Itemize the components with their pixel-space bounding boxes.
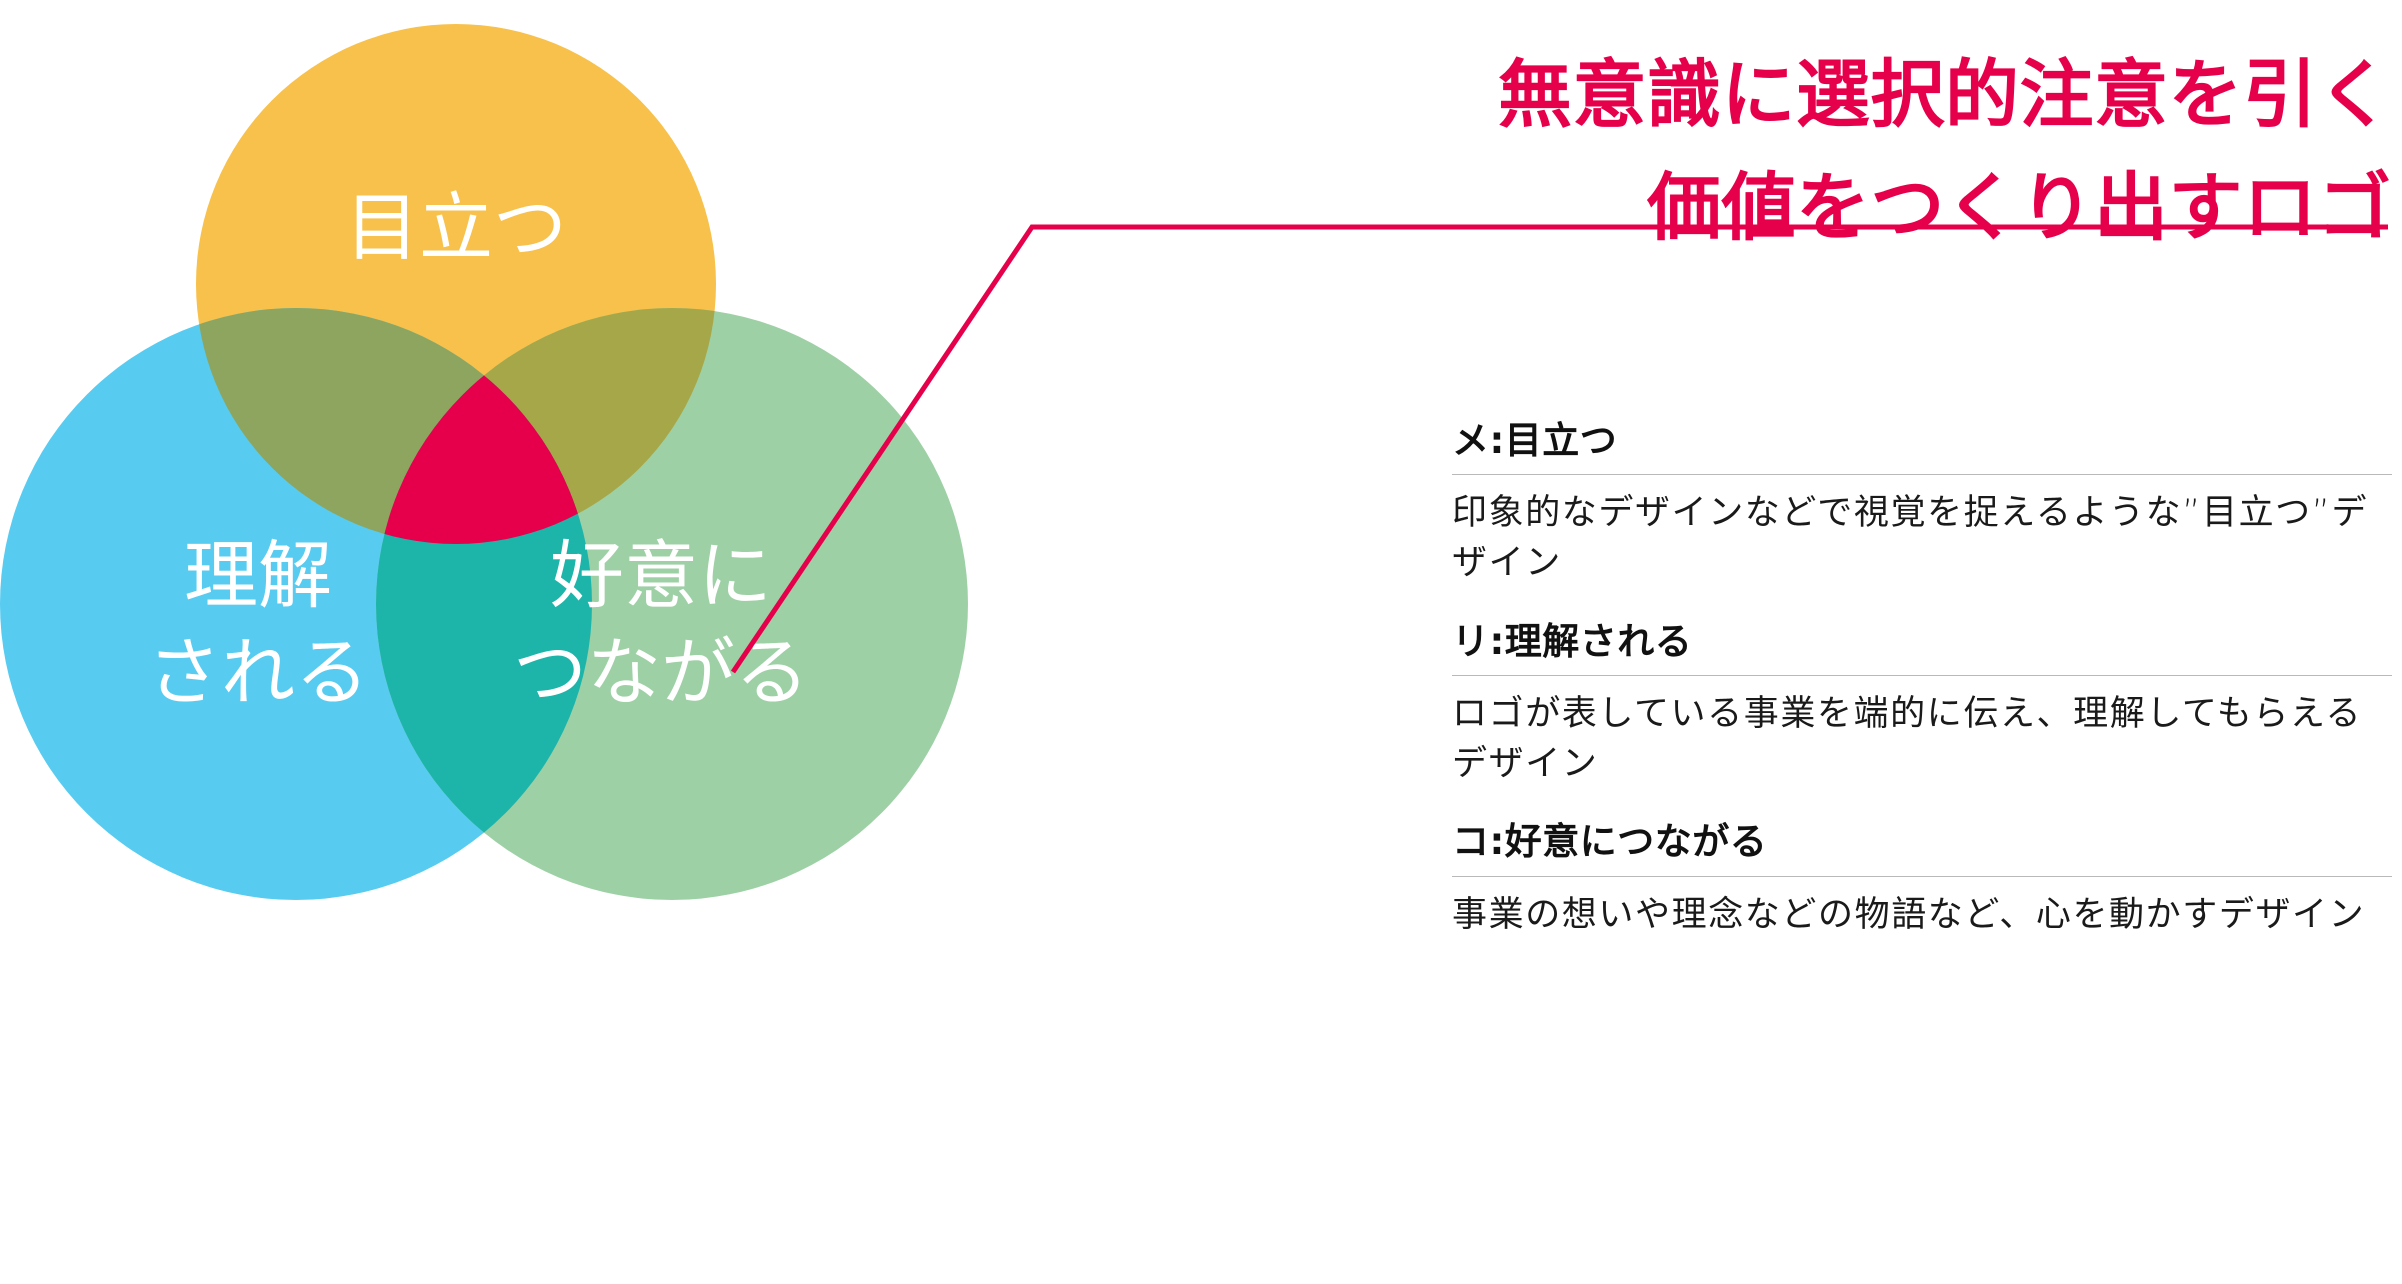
venn-label-left-line-2: される — [147, 631, 369, 714]
list-item-divider — [1452, 675, 2392, 676]
list-item-title: コ:好意につながる — [1452, 819, 2392, 875]
venn-svg: 目立つ 理解 される 好意に つながる — [0, 0, 1400, 1284]
venn-label-left-line-1: 理解 — [184, 534, 332, 617]
headline-line-1: 無意識に選択的注意を引く — [1292, 48, 2392, 143]
definition-list: メ:目立つ 印象的なデザインなどで視覚を捉えるような”目立つ”デザイン リ:理解… — [1452, 418, 2392, 940]
headline-block: 無意識に選択的注意を引く 価値をつくり出すロゴ — [1292, 48, 2392, 255]
headline-line-2: 価値をつくり出すロゴ — [1292, 161, 2392, 256]
list-item-divider — [1452, 876, 2392, 877]
venn-label-top-line-1: 目立つ — [345, 186, 567, 269]
list-item: メ:目立つ 印象的なデザインなどで視覚を捉えるような”目立つ”デザイン — [1452, 418, 2392, 589]
slide-canvas: 目立つ 理解 される 好意に つながる 無意識に選択的注意を引く 価値をつくり出… — [0, 0, 2402, 1284]
list-item: コ:好意につながる 事業の想いや理念などの物語など、心を動かすデザイン — [1452, 819, 2392, 940]
venn-label-right-line-1: 好意に — [550, 534, 772, 617]
list-item-title: メ:目立つ — [1452, 418, 2392, 474]
venn-label-right-line-2: つながる — [513, 631, 809, 714]
list-item-description: ロゴが表している事業を端的に伝え、理解してもらえるデザイン — [1452, 690, 2392, 789]
right-panel: 無意識に選択的注意を引く 価値をつくり出すロゴ メ:目立つ 印象的なデザインなど… — [1452, 0, 2392, 1284]
list-item-divider — [1452, 474, 2392, 475]
venn-label-top: 目立つ — [345, 186, 567, 269]
list-item-title: リ:理解される — [1452, 619, 2392, 675]
list-item-description: 事業の想いや理念などの物語など、心を動かすデザイン — [1452, 891, 2392, 941]
list-item-description: 印象的なデザインなどで視覚を捉えるような”目立つ”デザイン — [1452, 489, 2392, 588]
venn-diagram: 目立つ 理解 される 好意に つながる — [0, 0, 1400, 1284]
list-item: リ:理解される ロゴが表している事業を端的に伝え、理解してもらえるデザイン — [1452, 619, 2392, 790]
